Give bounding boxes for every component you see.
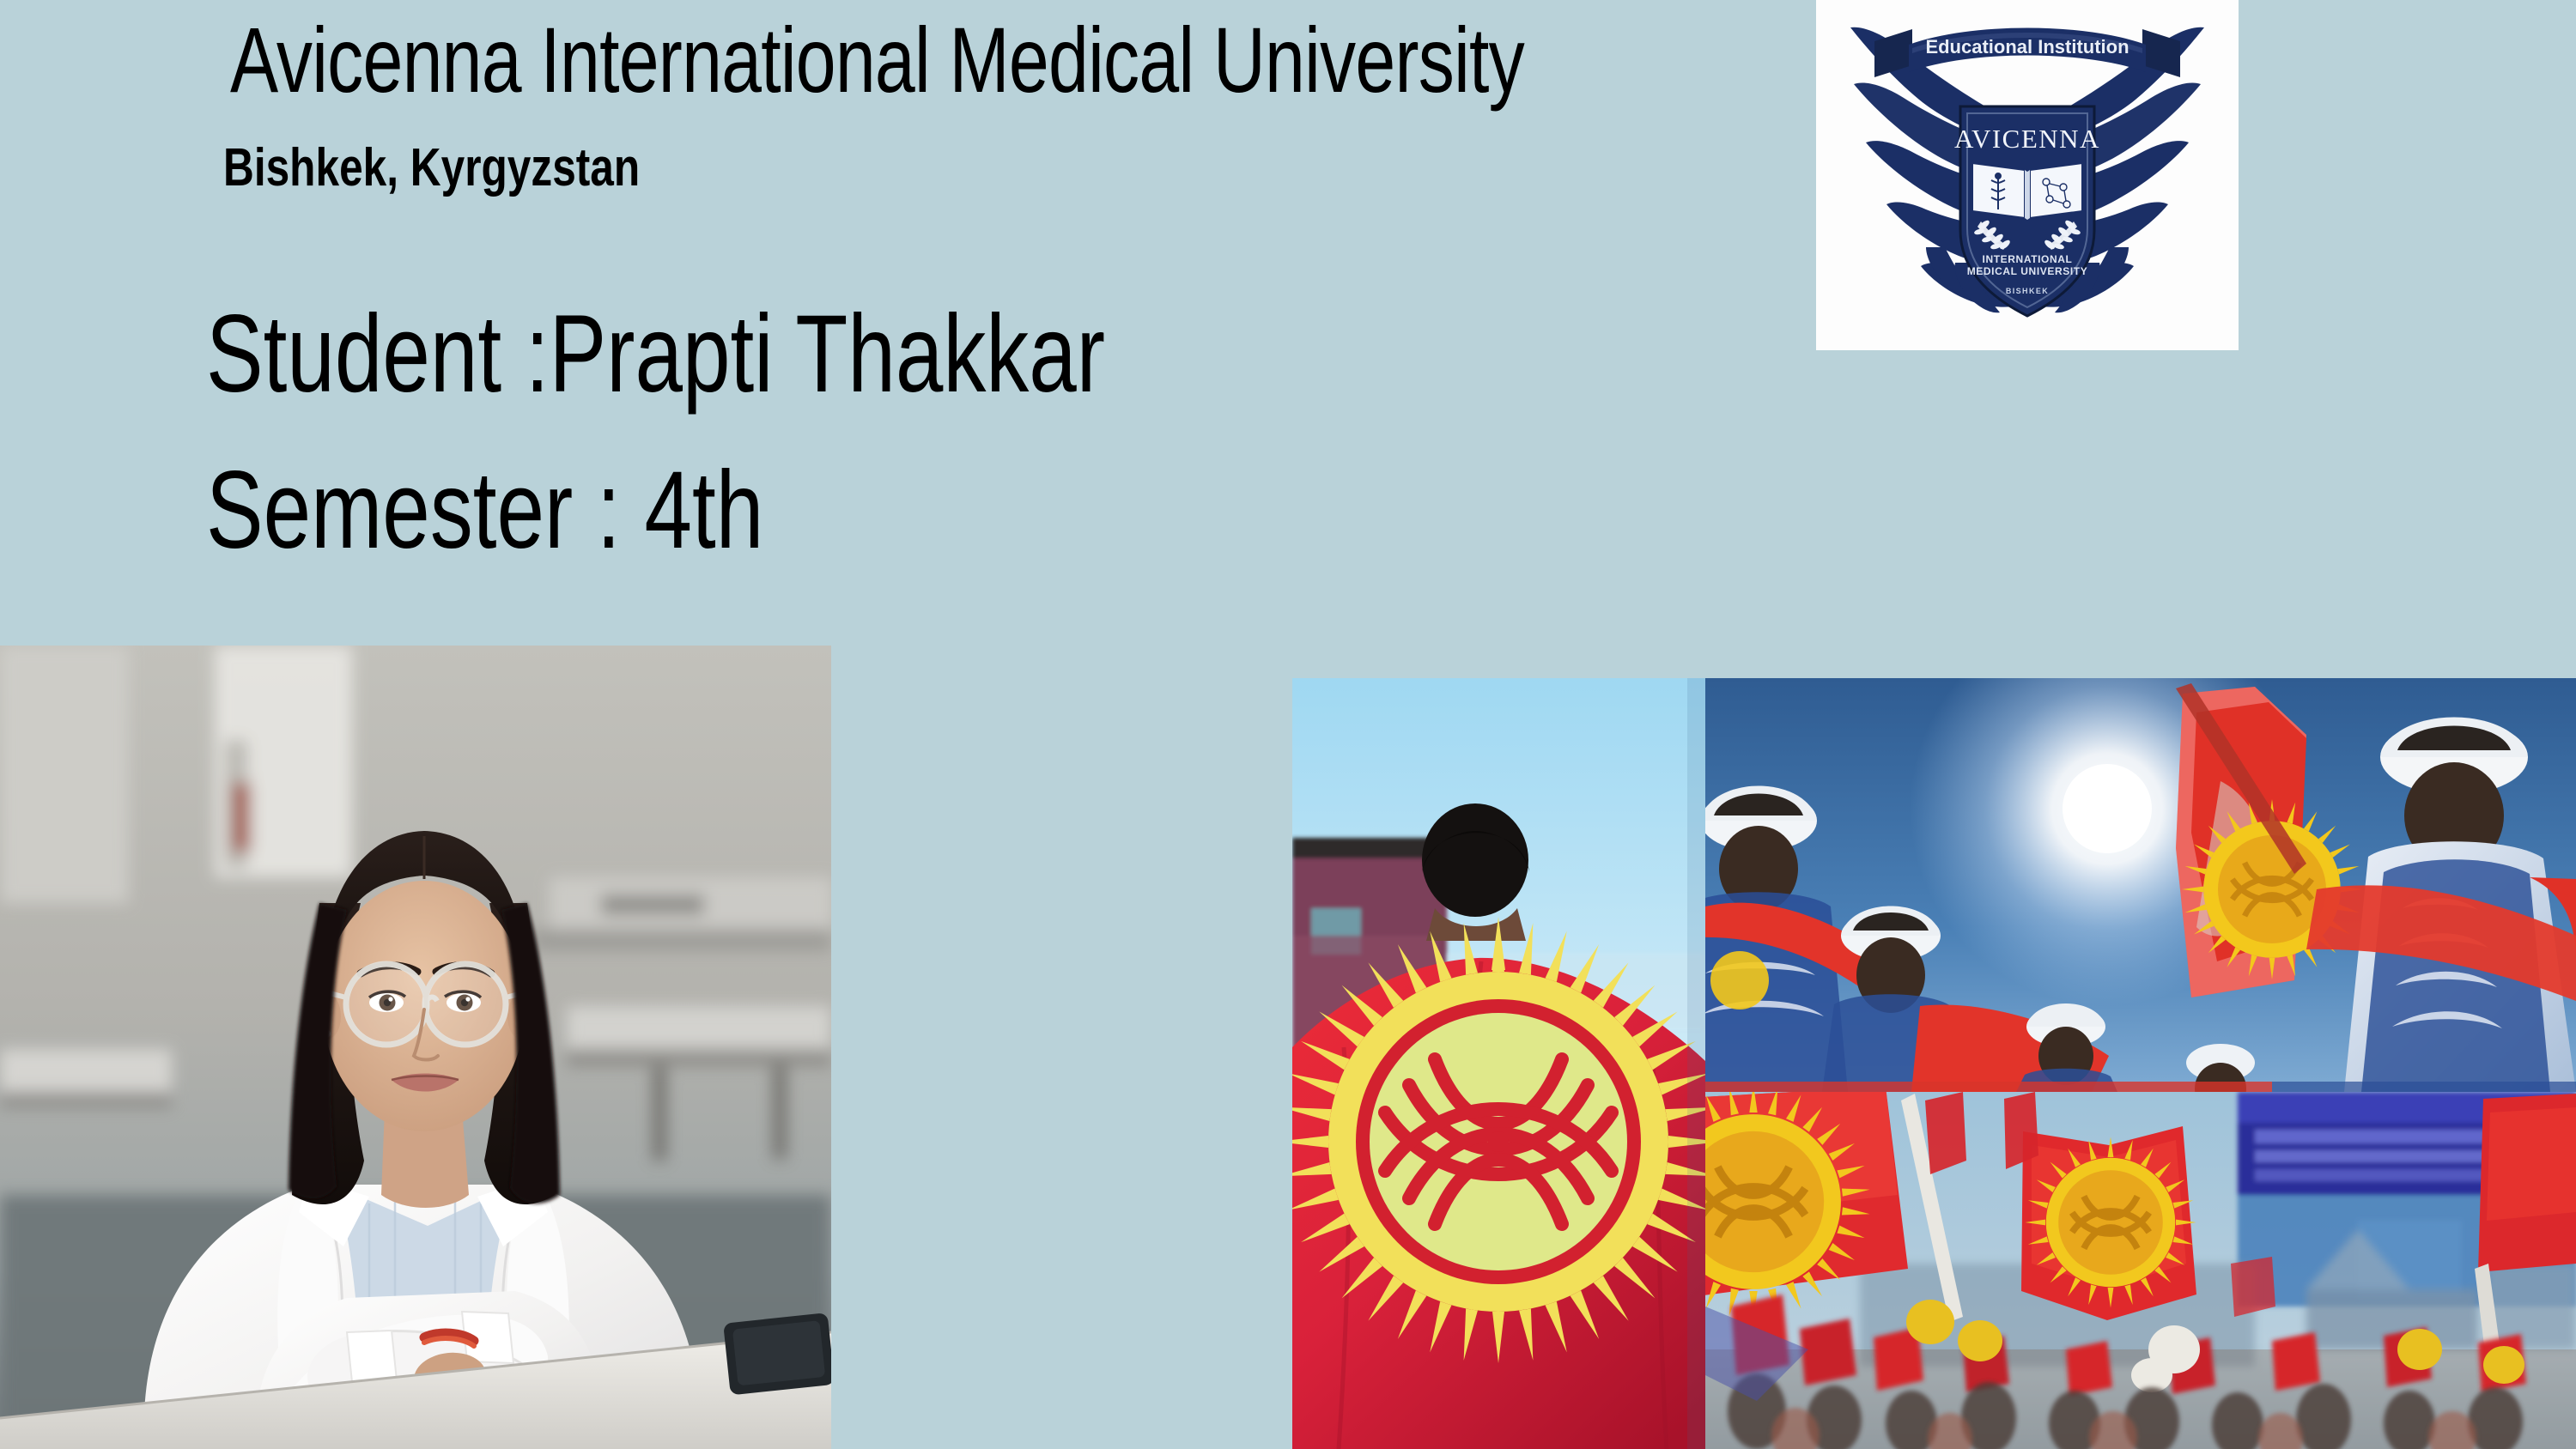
student-info-block: Student :Prapti Thakkar Semester : 4th xyxy=(206,276,1358,589)
university-logo: Educational Institution AVICENNA xyxy=(1816,0,2239,350)
student-portrait-photo xyxy=(0,646,831,1449)
student-name-line: Student :Prapti Thakkar xyxy=(206,276,1105,433)
flag-crowd-celebration-photo xyxy=(1705,1092,2576,1449)
page-title: Avicenna International Medical Universit… xyxy=(230,14,1503,106)
kyrgyzstan-flag-collage xyxy=(1292,678,2576,1449)
logo-shield-title: AVICENNA xyxy=(1954,124,2100,154)
logo-shield-subtitle-2: MEDICAL UNIVERSITY xyxy=(1967,265,2088,277)
logo-shield-subtitle-3: BISHKEK xyxy=(2006,287,2049,295)
logo-banner-text: Educational Institution xyxy=(1925,36,2129,58)
flag-cape-photo xyxy=(1292,678,1705,1449)
header-block: Avicenna International Medical Universit… xyxy=(230,14,1862,198)
logo-shield-subtitle-1: INTERNATIONAL xyxy=(1983,253,2073,265)
university-location: Bishkek, Kyrgyzstan xyxy=(223,137,1534,198)
semester-line: Semester : 4th xyxy=(206,433,1105,589)
title-slide: Avicenna International Medical Universit… xyxy=(0,0,2576,1449)
kalpak-flag-bearers-photo xyxy=(1705,678,2576,1092)
